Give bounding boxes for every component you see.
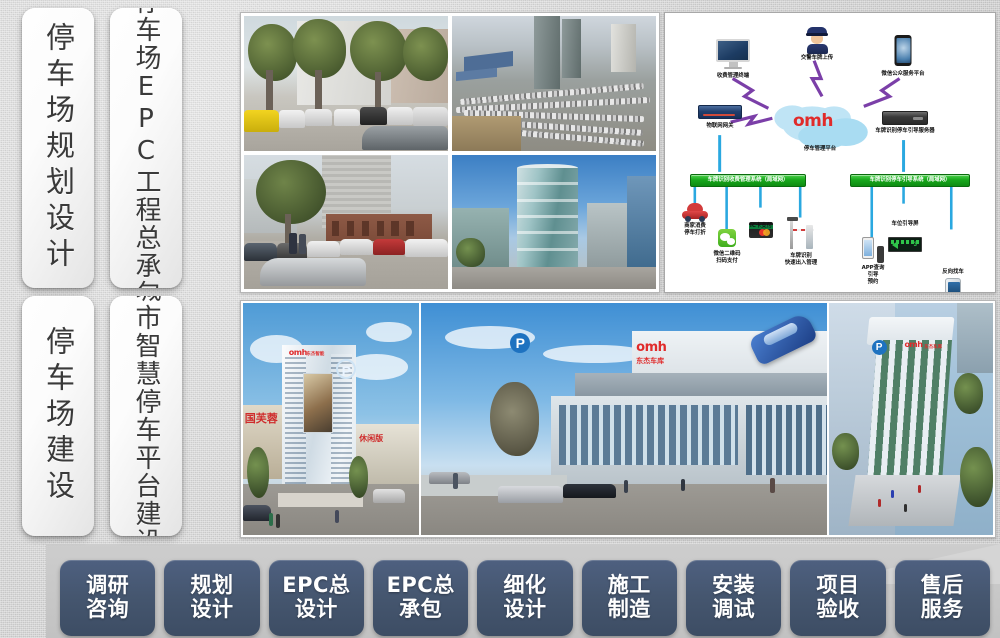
sidebar-item-smart-parking-platform[interactable]: 城市智慧停车平台建设: [110, 296, 182, 536]
omh-logo: omh: [904, 340, 922, 349]
omh-logo-sub: 东杰车库: [636, 356, 664, 366]
process-step-manufacturing[interactable]: 施工 制造: [582, 560, 677, 636]
smartphone-icon: [895, 35, 912, 66]
system-bar-guidance: 车牌识别停车引导系统（局域网）: [850, 174, 970, 187]
process-step-acceptance[interactable]: 项目 验收: [790, 560, 885, 636]
sidebar-item-parking-epc-contracting[interactable]: 停车场EPC工程总承包: [110, 8, 182, 288]
diagram-node-label: 物联网网关: [692, 123, 748, 130]
omh-logo: omh: [793, 111, 833, 131]
sidebar-item-label: 城市智慧停车平台建设: [133, 296, 159, 536]
diagram-node-label: 收费管理终端: [703, 73, 763, 80]
diagram-leaf-label: APP查询 引导 预约: [851, 265, 895, 286]
system-bar-toll: 车牌识别收费管理系统（局域网）: [690, 174, 806, 187]
process-step-detail-design[interactable]: 细化 设计: [477, 560, 572, 636]
diagram-leaf-label: IC卡支付: [738, 223, 784, 230]
kiosk-icon: [945, 278, 961, 293]
diagram-leaf-label: 车位引导屏: [876, 221, 934, 228]
red-car-icon: [682, 203, 708, 220]
app-phone-icon: [862, 237, 884, 263]
project-photo-grid: [240, 12, 660, 293]
process-step-planning[interactable]: 规划 设计: [164, 560, 259, 636]
render-parking-garage-center: omh 东杰车库 P: [421, 303, 827, 535]
sidebar-item-parking-planning-design[interactable]: 停车场规划设计: [22, 8, 94, 288]
sign-left: 国芙蓉: [245, 410, 278, 426]
process-step-epc-contract[interactable]: EPC总 承包: [373, 560, 468, 636]
render-parking-tower-left: P omh 东杰智能 国芙蓉 休闲版: [243, 303, 419, 535]
process-step-after-sales[interactable]: 售后 服务: [895, 560, 990, 636]
omh-logo: omh: [289, 348, 307, 357]
system-architecture-diagram: 收费管理终端 交警车牌上传 微信公众服务平台 物联网网关 车牌识别停车引导服务器…: [664, 12, 996, 293]
sidebar-item-label: 停车场EPC工程总承包: [133, 8, 159, 288]
process-step-bar: 调研 咨询 规划 设计 EPC总 设计 EPC总 承包 细化 设计 施工 制造 …: [60, 560, 990, 636]
parking-p-mark: P: [510, 333, 530, 353]
diagram-leaf-label: 商家消费 停车打折: [667, 223, 723, 237]
diagram-leaf-label: 反向找车: [928, 269, 978, 276]
process-step-epc-design[interactable]: EPC总 设计: [269, 560, 364, 636]
process-step-research[interactable]: 调研 咨询: [60, 560, 155, 636]
cloud-platform-label: 停车管理平台: [785, 146, 855, 153]
barrier-gate-icon: [787, 217, 815, 249]
network-gateway-icon: [698, 105, 742, 119]
diagram-leaf-label: 微信二维码 扫码支付: [698, 251, 756, 265]
led-guide-screen-icon: 3: [888, 237, 922, 252]
diagram-node-label: 车牌识别停车引导服务器: [857, 128, 953, 135]
diagram-leaf-label: 车牌识别 快速出入管理: [769, 253, 833, 267]
sidebar-item-parking-construction[interactable]: 停车场建设: [22, 296, 94, 536]
omh-logo-sub: 东杰智能: [306, 351, 324, 357]
wechat-icon: [718, 229, 736, 247]
process-step-installation[interactable]: 安装 调试: [686, 560, 781, 636]
photo-aerial-parking: [452, 16, 656, 151]
sidebar: 停车场规划设计 停车场EPC工程总承包 停车场建设 城市智慧停车平台建设: [0, 0, 232, 548]
diagram-node-label: 微信公众服务平台: [862, 71, 944, 78]
sidebar-item-label: 停车场规划设计: [44, 22, 73, 274]
photo-glass-tower: [452, 155, 656, 290]
diagram-node-label: 交警车牌上传: [784, 55, 850, 62]
rack-server-icon: [882, 111, 928, 125]
parking-p-mark: P: [872, 340, 887, 355]
omh-logo-sub: 东杰车库: [924, 344, 942, 350]
omh-logo: omh: [636, 340, 666, 355]
architectural-render-strip: P omh 东杰智能 国芙蓉 休闲版 omh 东杰车库 P: [240, 300, 996, 538]
imac-icon: [716, 39, 750, 69]
police-officer-icon: [806, 27, 828, 53]
sidebar-item-label: 停车场建设: [44, 326, 73, 506]
sign-right: 休闲版: [359, 433, 383, 444]
photo-street-parking: [244, 16, 448, 151]
parking-p-mark: P: [336, 359, 356, 379]
photo-lot-brick-building: [244, 155, 448, 290]
render-parking-tower-aerial: P omh 东杰车库: [829, 303, 993, 535]
